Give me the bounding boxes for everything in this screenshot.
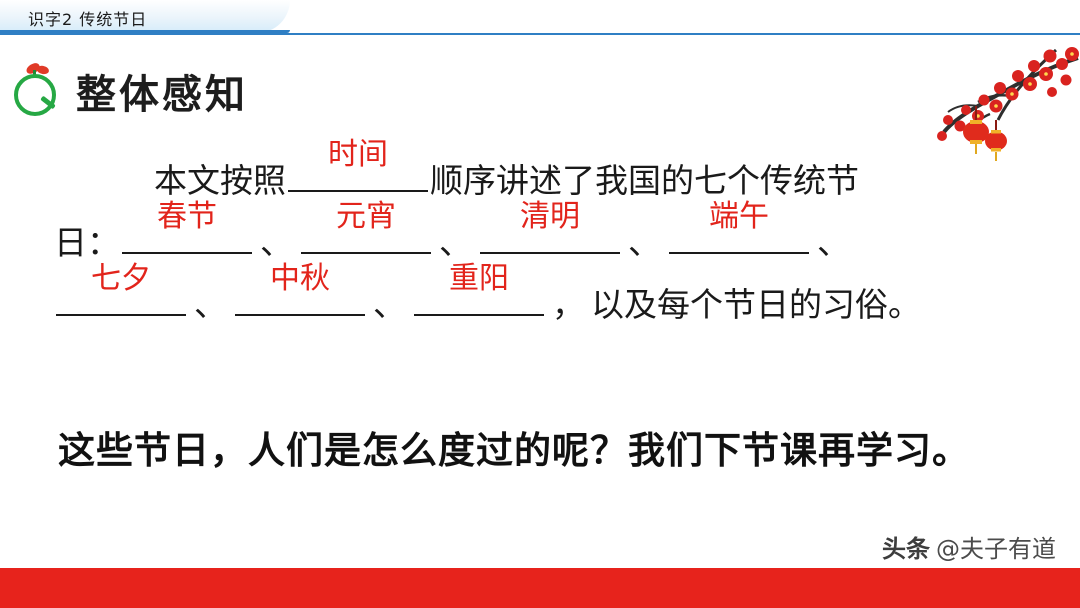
blank-festival-5[interactable]: 七夕	[56, 274, 186, 316]
separator-6: 、	[367, 285, 412, 324]
separator-3: 、	[622, 223, 667, 262]
answer-festival-3: 清明	[480, 186, 620, 248]
fill-in-line-3: 七夕、中秋、重阳，以及每个节日的习俗。	[54, 274, 1044, 336]
answer-time: 时间	[288, 124, 428, 186]
watermark-handle: @夫子有道	[936, 535, 1056, 563]
trailing-comma: ，	[546, 285, 591, 324]
answer-festival-5: 七夕	[56, 248, 186, 310]
footer-bar	[0, 568, 1080, 608]
line3-suffix: 以及每个节日的习俗。	[591, 285, 921, 324]
header-divider	[0, 33, 1080, 35]
header-bar: 识字2 传统节日	[0, 0, 1080, 36]
blank-festival-4[interactable]: 端午	[669, 212, 809, 254]
separator-5: 、	[188, 285, 233, 324]
blank-festival-7[interactable]: 重阳	[414, 274, 544, 316]
closing-question: 这些节日，人们是怎么度过的呢？我们下节课再学习。	[58, 420, 1038, 474]
answer-festival-1: 春节	[122, 186, 252, 248]
separator-4: 、	[811, 223, 856, 262]
section-heading-label: 整体感知	[76, 62, 248, 120]
watermark-logo: 头条	[882, 535, 930, 563]
blank-festival-6[interactable]: 中秋	[235, 274, 365, 316]
answer-festival-7: 重阳	[414, 248, 544, 310]
answer-festival-4: 端午	[669, 186, 809, 248]
page-title: 识字2 传统节日	[28, 6, 147, 30]
fill-in-line-2: 日：春节、元宵、清明、端午、	[54, 212, 1044, 274]
fill-in-paragraph: 本文按照时间顺序讲述了我国的七个传统节 日：春节、元宵、清明、端午、 七夕、中秋…	[54, 150, 1044, 336]
answer-festival-2: 元宵	[301, 186, 431, 248]
q-sprout-icon	[10, 64, 64, 118]
section-heading: 整体感知	[10, 62, 248, 120]
answer-festival-6: 中秋	[235, 248, 365, 310]
watermark: 头条@夫子有道	[882, 529, 1056, 564]
